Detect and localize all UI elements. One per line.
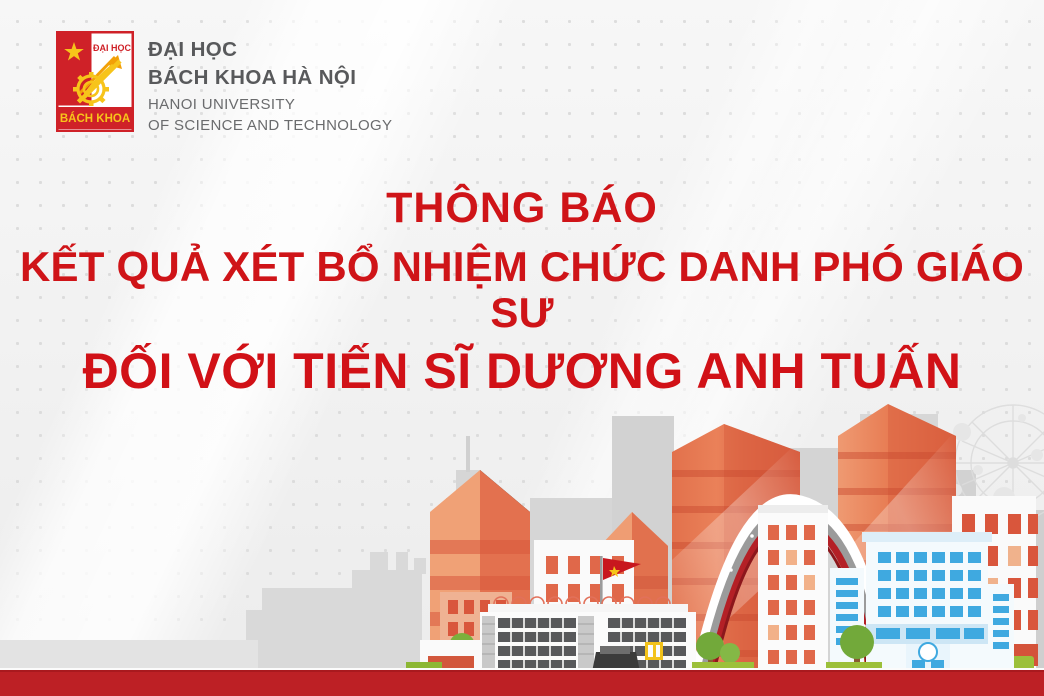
poster-header: ĐẠI HỌC [0, 0, 1044, 152]
org-line-2: BÁCH KHOA HÀ NỘI [148, 68, 392, 89]
org-line-3: HANOI UNIVERSITY [148, 97, 392, 112]
bottom-red-bar [0, 672, 1044, 696]
hust-crest-icon: ĐẠI HỌC [56, 31, 134, 132]
logo-badge-text: ĐẠI HỌC [93, 43, 132, 53]
hust-logo: ĐẠI HỌC [56, 31, 134, 132]
title-line-1: THÔNG BÁO [0, 186, 1044, 232]
org-line-1: ĐẠI HỌC [148, 40, 392, 61]
org-name-block: ĐẠI HỌC BÁCH KHOA HÀ NỘI HANOI UNIVERSIT… [148, 40, 392, 133]
org-line-4: OF SCIENCE AND TECHNOLOGY [148, 118, 392, 133]
title-line-3: ĐỐI VỚI TIẾN SĨ DƯƠNG ANH TUẤN [0, 344, 1044, 399]
announcement-titles: THÔNG BÁO KẾT QUẢ XÉT BỔ NHIỆM CHỨC DANH… [0, 186, 1044, 399]
title-line-2: KẾT QUẢ XÉT BỔ NHIỆM CHỨC DANH PHÓ GIÁO … [0, 244, 1044, 336]
logo-banner-text: BÁCH KHOA [60, 112, 130, 125]
c1-sign [645, 642, 663, 660]
white-tower-orange-windows [758, 505, 828, 672]
poster-canvas: ĐẠI HỌC [0, 0, 1044, 696]
